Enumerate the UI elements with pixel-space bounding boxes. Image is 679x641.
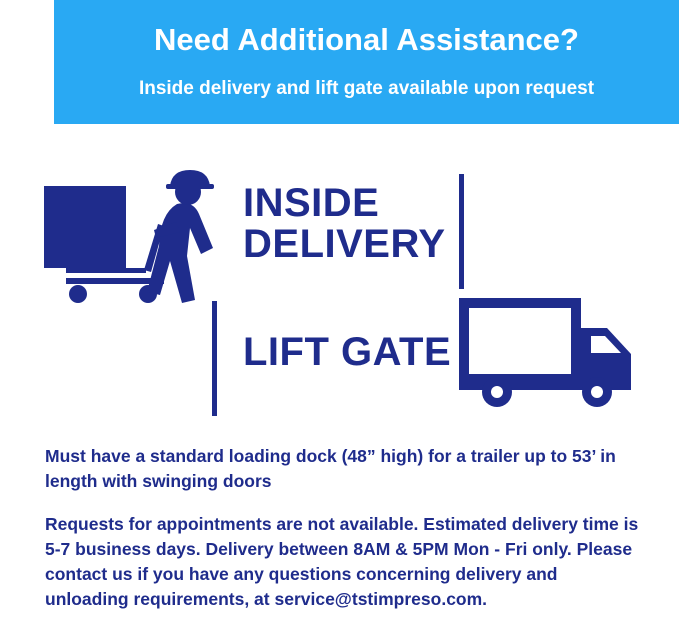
delivery-notes: Must have a standard loading dock (48” h… bbox=[45, 444, 645, 612]
lift-gate-label: LIFT GATE bbox=[243, 332, 451, 373]
assistance-banner: Need Additional Assistance? Inside deliv… bbox=[54, 0, 679, 124]
inside-delivery-label: INSIDE DELIVERY bbox=[243, 183, 446, 265]
lift-gate-divider bbox=[212, 301, 217, 416]
inside-delivery-label-line2: DELIVERY bbox=[243, 224, 446, 265]
banner-subtitle: Inside delivery and lift gate available … bbox=[64, 76, 669, 102]
loading-dock-note: Must have a standard loading dock (48” h… bbox=[45, 444, 645, 494]
inside-delivery-label-line1: INSIDE bbox=[243, 183, 446, 224]
inside-delivery-divider bbox=[459, 174, 464, 289]
inside-delivery-worker-icon bbox=[36, 160, 226, 320]
services-section: INSIDE DELIVERY LIFT GATE bbox=[0, 124, 679, 424]
banner-title: Need Additional Assistance? bbox=[64, 20, 669, 60]
appointment-note: Requests for appointments are not availa… bbox=[45, 512, 645, 612]
delivery-assistance-infographic: Need Additional Assistance? Inside deliv… bbox=[0, 0, 679, 641]
lift-gate-truck-icon bbox=[455, 294, 645, 414]
